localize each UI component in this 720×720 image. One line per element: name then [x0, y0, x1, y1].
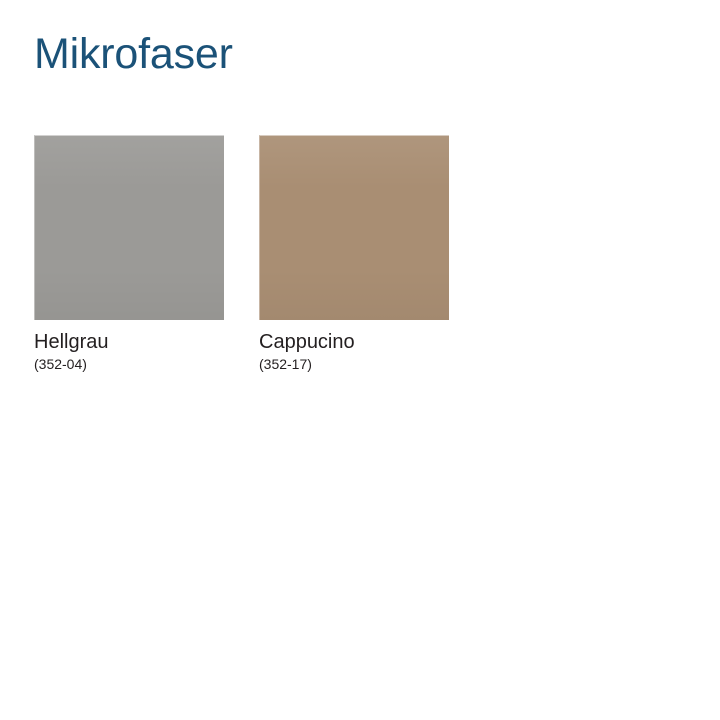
material-swatch-page: Mikrofaser Hellgrau (352-04) Cappucino (…	[0, 0, 720, 720]
swatch-list: Hellgrau (352-04) Cappucino (352-17)	[34, 135, 449, 372]
swatch-code-label: (352-04)	[34, 356, 224, 372]
color-swatch-hellgrau[interactable]	[34, 135, 224, 320]
swatch-card-cappucino[interactable]: Cappucino (352-17)	[259, 135, 449, 372]
swatch-card-hellgrau[interactable]: Hellgrau (352-04)	[34, 135, 224, 372]
page-title: Mikrofaser	[34, 28, 233, 80]
swatch-name-label: Hellgrau	[34, 331, 224, 353]
swatch-name-label: Cappucino	[259, 331, 449, 353]
color-swatch-cappucino[interactable]	[259, 135, 449, 320]
swatch-sheen-overlay	[35, 136, 224, 320]
swatch-sheen-overlay	[260, 136, 449, 320]
swatch-code-label: (352-17)	[259, 356, 449, 372]
